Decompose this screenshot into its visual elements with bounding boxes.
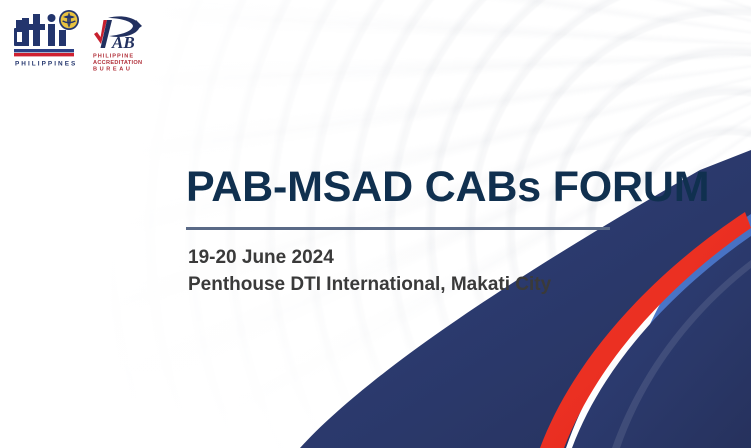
logo-bar: PHILIPPINES AB PHILIPPINE ACCREDITATION …: [14, 8, 144, 74]
event-title-slide: PHILIPPINES AB PHILIPPINE ACCREDITATION …: [0, 0, 751, 448]
event-venue: Penthouse DTI International, Makati City: [188, 272, 551, 299]
pab-logo: AB PHILIPPINE ACCREDITATION BUREAU: [92, 8, 144, 74]
event-title: PAB-MSAD CABs FORUM: [186, 163, 709, 212]
dti-blue-bar: [14, 49, 74, 52]
dti-red-bar: [14, 53, 74, 56]
event-dates: 19-20 June 2024: [188, 245, 551, 272]
title-divider: [186, 227, 610, 230]
dti-philippines-logo: PHILIPPINES: [14, 8, 82, 74]
pab-label-line-1: PHILIPPINE: [93, 54, 134, 60]
pab-label-line-3: BUREAU: [93, 67, 133, 73]
dti-country-label: PHILIPPINES: [15, 61, 77, 68]
event-details: 19-20 June 2024 Penthouse DTI Internatio…: [188, 245, 551, 299]
pab-monogram: AB: [111, 33, 135, 52]
pab-label-line-2: ACCREDITATION: [93, 60, 142, 66]
